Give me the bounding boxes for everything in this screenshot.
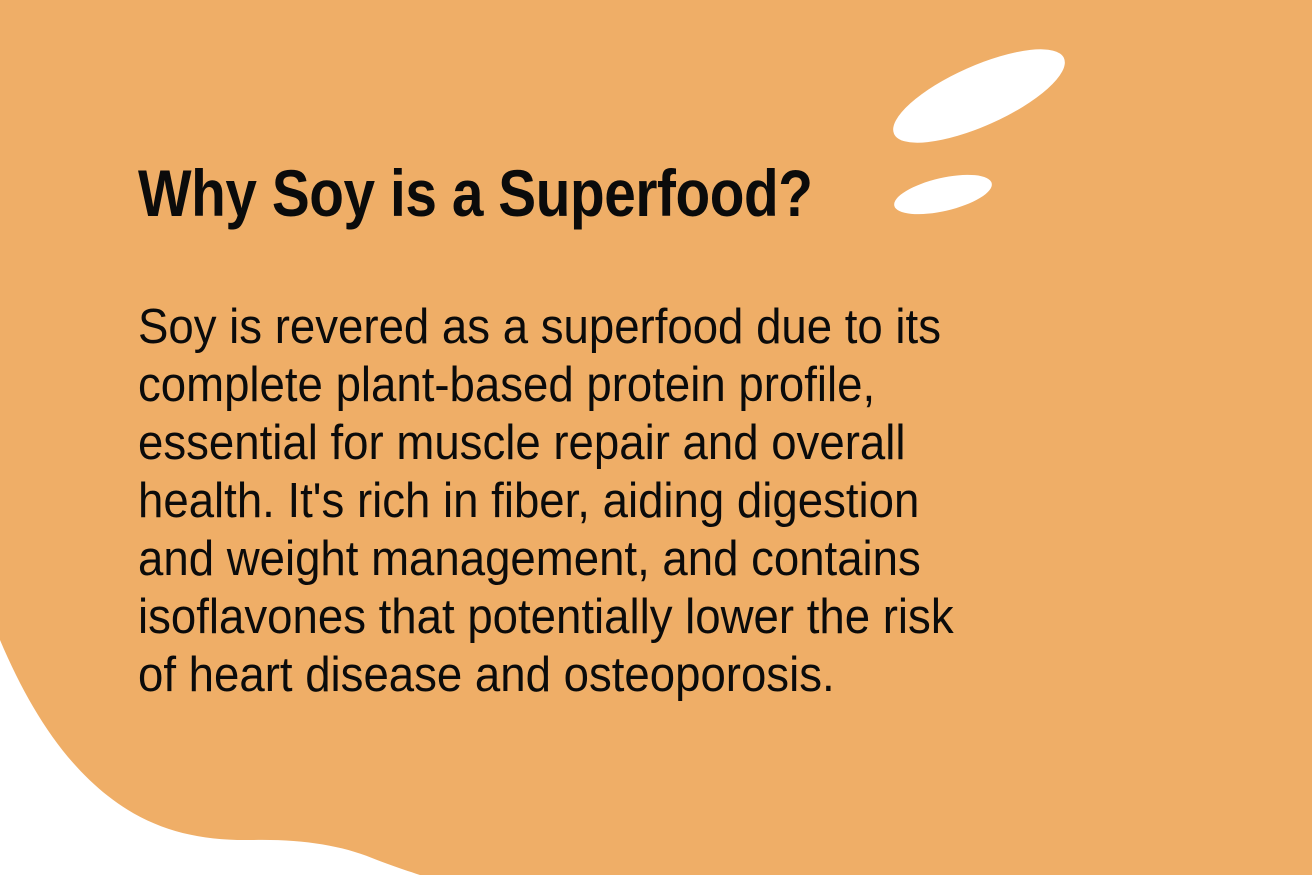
body-copy: Soy is revered as a superfood due to its…	[138, 298, 1031, 704]
card-content: Why Soy is a Superfood? Soy is revered a…	[138, 0, 1138, 875]
body-line: essential for muscle repair and overall	[138, 414, 1031, 472]
body-line: health. It's rich in fiber, aiding diges…	[138, 472, 1031, 530]
body-line: of heart disease and osteoporosis.	[138, 646, 1031, 704]
info-card: Why Soy is a Superfood? Soy is revered a…	[0, 0, 1312, 875]
body-line: isoflavones that potentially lower the r…	[138, 588, 1031, 646]
page-title: Why Soy is a Superfood?	[138, 160, 812, 226]
body-line: Soy is revered as a superfood due to its	[138, 298, 1031, 356]
body-line: complete plant-based protein profile,	[138, 356, 1031, 414]
body-line: and weight management, and contains	[138, 530, 1031, 588]
